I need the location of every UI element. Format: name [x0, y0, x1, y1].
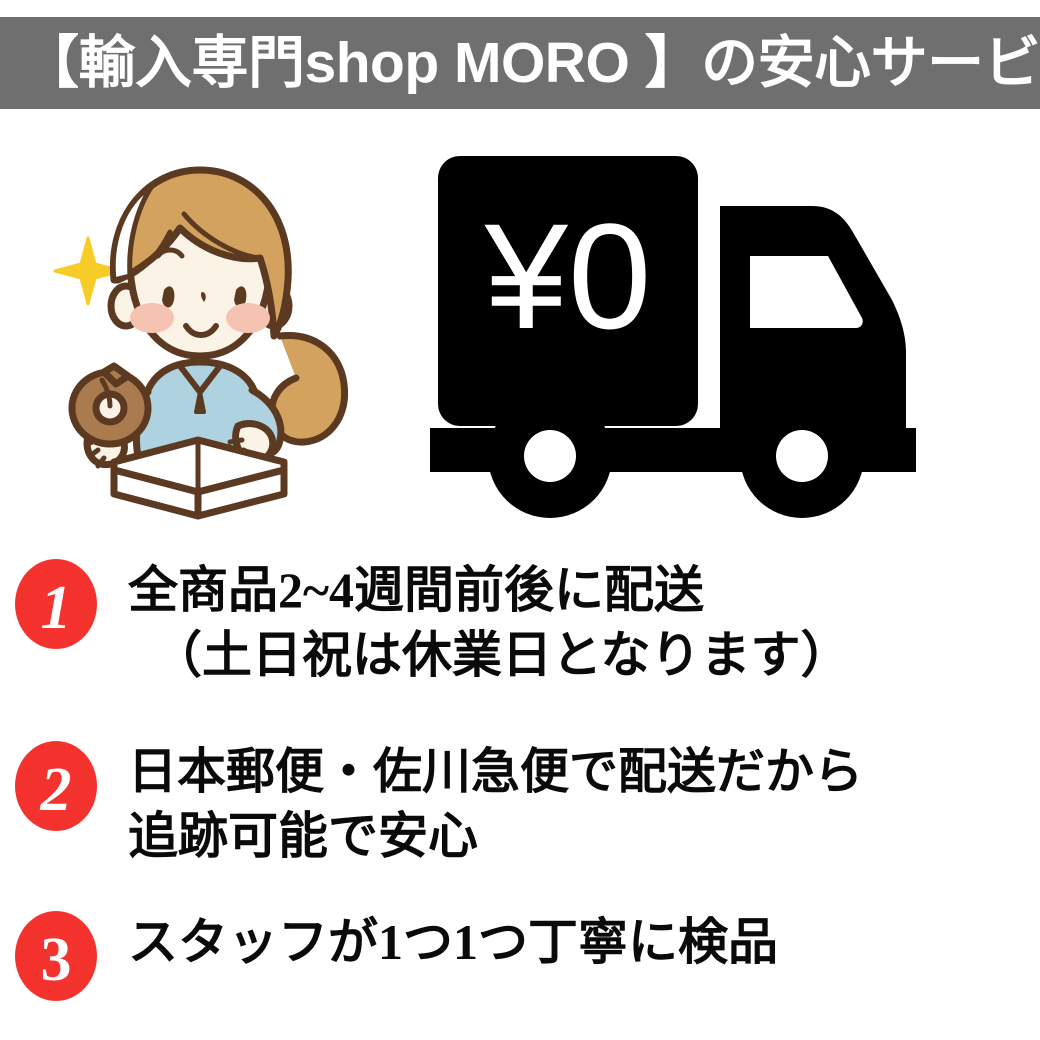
delivery-truck-free-shipping-icon: ¥0 [420, 138, 1030, 518]
badge-number-1: 1 [14, 558, 98, 650]
benefit-text-1: 全商品2~4週間前後に配送 （土日祝は休業日となります） [128, 558, 1040, 688]
benefit-1-line-1: 全商品2~4週間前後に配送 [128, 558, 1040, 623]
benefit-list: 1 全商品2~4週間前後に配送 （土日祝は休業日となります） 2 日本郵便・佐川… [0, 548, 1040, 1040]
truck-price-label: ¥0 [484, 192, 652, 360]
badge-number-3-label: 3 [41, 926, 72, 994]
benefit-text-3: スタッフが1つ1つ丁寧に検品 [128, 910, 1040, 975]
badge-number-1-label: 1 [41, 574, 72, 642]
illustration-area: ¥0 [0, 120, 1040, 540]
header-banner: 【輸入専門shop MORO 】の安心サービス [0, 17, 1040, 109]
badge-number-2: 2 [14, 740, 98, 832]
list-item: 1 全商品2~4週間前後に配送 （土日祝は休業日となります） [0, 558, 1040, 688]
page-title: 【輸入専門shop MORO 】の安心サービス [22, 35, 1040, 92]
benefit-3-line-1: スタッフが1つ1つ丁寧に検品 [128, 910, 1040, 975]
badge-number-2-label: 2 [40, 756, 72, 824]
benefit-2-line-1: 日本郵便・佐川急便で配送だから [128, 740, 1040, 804]
benefit-1-line-2: （土日祝は休業日となります） [128, 623, 1040, 688]
benefit-2-line-2: 追跡可能で安心 [128, 804, 1040, 869]
list-item: 2 日本郵便・佐川急便で配送だから 追跡可能で安心 [0, 740, 1040, 869]
promo-banner-page: 【輸入専門shop MORO 】の安心サービス [0, 0, 1040, 1040]
list-item: 3 スタッフが1つ1つ丁寧に検品 [0, 910, 1040, 1002]
badge-number-3: 3 [14, 910, 98, 1002]
tape-roll-icon [72, 366, 148, 444]
woman-packing-box-illustration [52, 140, 392, 520]
benefit-text-2: 日本郵便・佐川急便で配送だから 追跡可能で安心 [128, 740, 1040, 869]
